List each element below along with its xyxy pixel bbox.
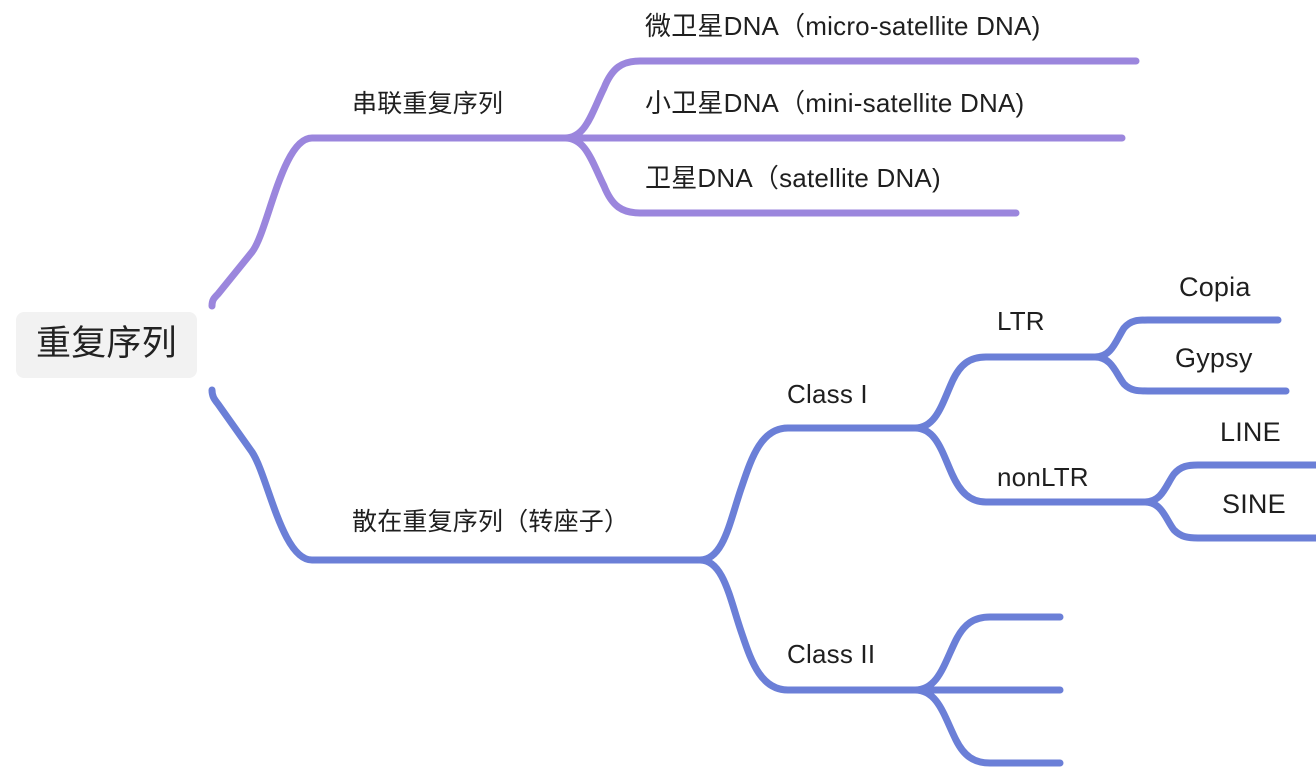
- edge-class-ii-to-blank-1: [915, 617, 1060, 690]
- node-root-repeat-sequence[interactable]: 重复序列: [16, 312, 197, 378]
- node-interspersed-repeat[interactable]: 散在重复序列（转座子）: [352, 508, 629, 537]
- node-micro-satellite-dna[interactable]: 微卫星DNA（micro-satellite DNA): [645, 12, 1040, 42]
- node-tandem-repeat[interactable]: 串联重复序列: [352, 90, 503, 119]
- node-class-i[interactable]: Class I: [787, 380, 868, 410]
- edge-class-ii-to-blank-3: [915, 690, 1060, 763]
- node-class-ii[interactable]: Class II: [787, 640, 875, 670]
- mindmap-canvas: 重复序列 串联重复序列 散在重复序列（转座子） 微卫星DNA（micro-sat…: [0, 0, 1316, 768]
- node-satellite-dna[interactable]: 卫星DNA（satellite DNA): [645, 164, 941, 194]
- node-sine[interactable]: SINE: [1222, 489, 1286, 520]
- node-gypsy[interactable]: Gypsy: [1175, 343, 1253, 374]
- edge-root-to-tandem: [212, 138, 565, 306]
- node-nonltr[interactable]: nonLTR: [997, 463, 1089, 493]
- edge-interspersed-to-class-ii: [700, 560, 915, 690]
- edge-class-i-to-ltr: [915, 357, 1095, 428]
- node-line[interactable]: LINE: [1220, 417, 1281, 448]
- node-mini-satellite-dna[interactable]: 小卫星DNA（mini-satellite DNA): [645, 89, 1024, 119]
- node-copia[interactable]: Copia: [1179, 272, 1251, 303]
- edge-interspersed-to-class-i: [700, 428, 915, 560]
- node-ltr[interactable]: LTR: [997, 307, 1045, 337]
